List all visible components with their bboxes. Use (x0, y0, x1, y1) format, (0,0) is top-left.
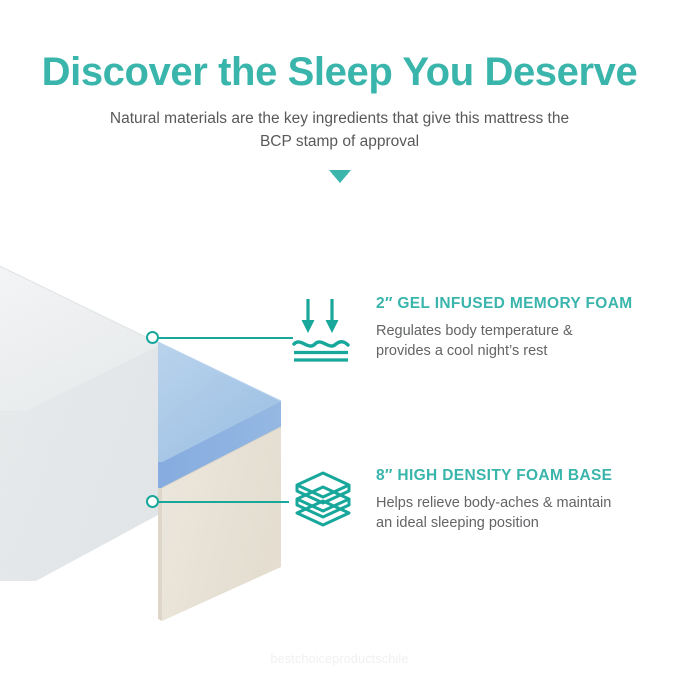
feature-gel-infused-memory-foam: 2″ GEL INFUSED MEMORY FOAM Regulates bod… (292, 294, 633, 362)
feature-high-density-foam-base: 8″ HIGH DENSITY FOAM BASE Helps relieve … (292, 466, 612, 533)
chevron-down-triangle-icon (329, 170, 351, 183)
feature-description: Helps relieve body-aches & maintain an i… (376, 485, 612, 533)
feature-description: Regulates body temperature & provides a … (376, 313, 633, 361)
callout-leader-line (159, 501, 289, 503)
callout-leader-line (159, 337, 293, 339)
feature-text: 8″ HIGH DENSITY FOAM BASE Helps relieve … (354, 466, 612, 533)
feature-title: 2″ GEL INFUSED MEMORY FOAM (376, 294, 633, 313)
watermark: bestchoiceproductschile (0, 652, 679, 666)
stacked-layers-icon (292, 466, 354, 530)
cutaway-mattress-diagram (0, 215, 340, 635)
page-subtitle: Natural materials are the key ingredient… (100, 96, 580, 153)
callout-dot-icon (146, 495, 159, 508)
header: Discover the Sleep You Deserve Natural m… (0, 0, 679, 183)
mattress-features-infographic: Discover the Sleep You Deserve Natural m… (0, 0, 679, 679)
callout-dot-icon (146, 331, 159, 344)
cooling-arrows-waves-icon (292, 294, 354, 362)
feature-title: 8″ HIGH DENSITY FOAM BASE (376, 466, 612, 485)
page-title: Discover the Sleep You Deserve (0, 0, 679, 96)
mattress-cover-layer (0, 237, 158, 581)
feature-text: 2″ GEL INFUSED MEMORY FOAM Regulates bod… (354, 294, 633, 361)
